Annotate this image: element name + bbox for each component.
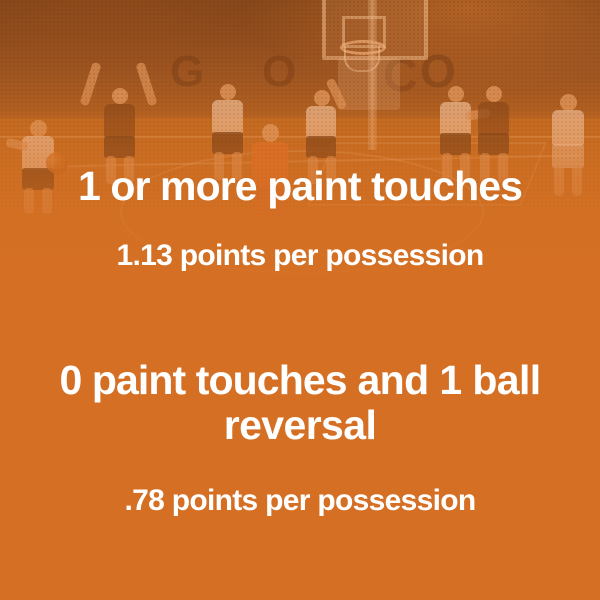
stat-headline-1: 1 or more paint touches bbox=[0, 164, 600, 209]
infographic-canvas: G O O C bbox=[0, 0, 600, 600]
stat-headline-2-line2: reversal bbox=[224, 402, 377, 448]
stat-headline-2-light: and 1 ball bbox=[347, 357, 541, 403]
stat-block-zero-paint-touches: 0 paint touches and 1 ballreversal .78 p… bbox=[0, 358, 600, 519]
stat-headline-2: 0 paint touches and 1 ballreversal bbox=[0, 358, 600, 448]
stat-content: 1 or more paint touches 1.13 points per … bbox=[0, 0, 600, 600]
stat-subline-1: 1.13 points per possession bbox=[0, 239, 600, 274]
stat-headline-2-bold: 0 paint touches bbox=[59, 357, 346, 403]
stat-subline-2: .78 points per possession bbox=[0, 484, 600, 519]
stat-headline-1-bold: 1 or more paint touches bbox=[78, 163, 522, 209]
stat-block-one-or-more-paint-touches: 1 or more paint touches 1.13 points per … bbox=[0, 164, 600, 274]
